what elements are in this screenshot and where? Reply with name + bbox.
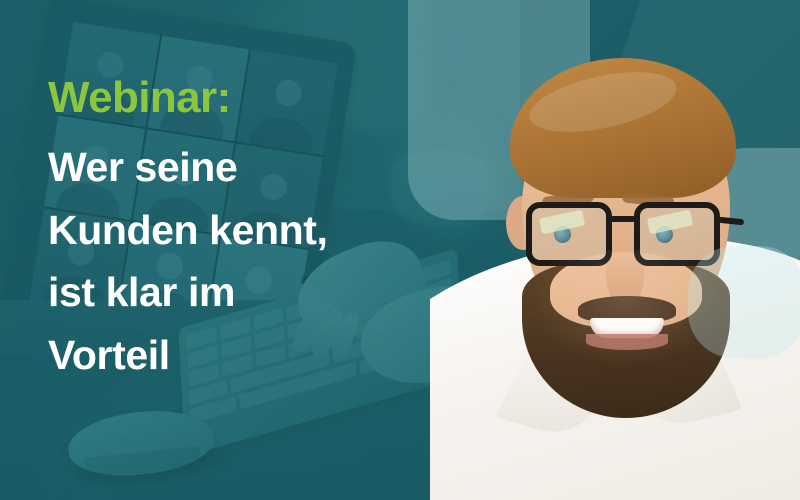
glasses-temple [718,217,744,226]
webinar-banner: Webinar: Wer seine Kunden kennt, ist kla… [0,0,800,500]
headline-line-2: Kunden kennt, [48,199,388,262]
headline-line-4: Vorteil [48,324,388,387]
glasses-bridge [610,216,636,222]
presenter-portrait [430,0,800,500]
headline-line-3: ist klar im [48,261,388,324]
hair [510,58,736,198]
face-shading [526,250,726,370]
eyebrow-label: Webinar: [48,76,388,120]
headline-line-1: Wer seine [48,136,388,199]
headline-block: Webinar: Wer seine Kunden kennt, ist kla… [48,76,388,387]
page-title: Wer seine Kunden kennt, ist klar im Vort… [48,136,388,387]
